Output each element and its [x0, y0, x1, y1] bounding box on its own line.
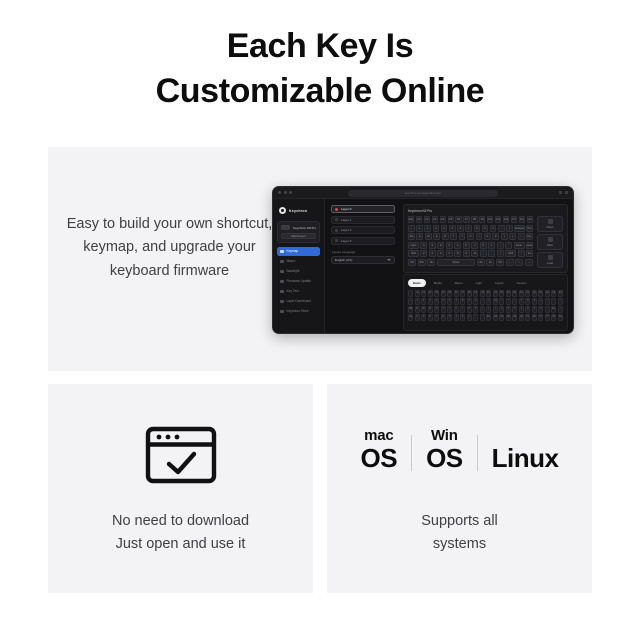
key-picker-chip[interactable]: F10: [480, 290, 485, 297]
sidebar-item-label: Keychron Store: [287, 309, 309, 313]
os-logo-name: OS: [426, 445, 463, 471]
keyboard-key[interactable]: 6: [457, 225, 464, 232]
keyboard-key[interactable]: G: [454, 242, 461, 249]
key-picker-chip[interactable]: 3: [532, 306, 537, 313]
key-picker-chip[interactable]: \: [493, 306, 498, 313]
key-picker-chip[interactable]: L: [467, 314, 472, 321]
keyboard-key[interactable]: F5: [448, 216, 454, 223]
keyboard-key[interactable]: N: [463, 250, 470, 257]
no-download-caption-line2: Just open and use it: [48, 533, 313, 556]
app-body: Keychron Keychron K8 Pro Disconnect Keym…: [273, 199, 573, 334]
address-bar-url: keychron.com/apps/launcher: [348, 190, 498, 197]
key-picker-chip[interactable]: T: [441, 306, 446, 313]
backlight-icon: [280, 270, 284, 274]
layer-item-0[interactable]: Layer 0: [331, 205, 395, 213]
tab-layers[interactable]: Layers: [490, 279, 509, 287]
keyboard-key[interactable]: L: [488, 242, 495, 249]
sidebar-nav: KeymapMacroBacklightFirmware UpdateKey T…: [277, 247, 320, 316]
keyboard-row: TabQWERTYUIOP[]\Pg↓: [408, 233, 533, 240]
keyboard-key[interactable]: J: [471, 242, 478, 249]
keyboard-key[interactable]: 1: [416, 225, 423, 232]
keyboard-key[interactable]: F8: [471, 216, 477, 223]
address-bar[interactable]: keychron.com/apps/launcher: [348, 190, 498, 197]
key-picker-chip[interactable]: I: [460, 306, 465, 313]
device-row: Keychron K8 Pro: [281, 225, 316, 230]
layout-language-value: English (US): [335, 258, 352, 262]
keyboard-key[interactable]: Alt: [477, 259, 485, 266]
keyboard-key[interactable]: C: [437, 250, 444, 257]
keyboard-key[interactable]: Space: [437, 259, 475, 266]
key-picker-chip[interactable]: 8: [525, 298, 530, 305]
keyboard-key[interactable]: 9: [482, 225, 489, 232]
keyboard-row: CapsASDFGHJKL;'EnterEnd: [408, 242, 533, 249]
os-logo-prefix: Win: [431, 428, 458, 443]
os-logo-linux: Linux: [492, 445, 559, 471]
keyboard-key[interactable]: H: [463, 242, 470, 249]
key-picker-chip[interactable]: E: [428, 306, 433, 313]
keyboard-key[interactable]: -: [498, 225, 505, 232]
chevron-down-icon: [387, 259, 391, 261]
key-picker-chip[interactable]: F8: [467, 290, 472, 297]
key-picker-chip[interactable]: F12: [493, 290, 498, 297]
key-picker-chip[interactable]: F9: [473, 290, 478, 297]
key-picker-chip[interactable]: F2: [428, 290, 433, 297]
keyboard-key[interactable]: U: [467, 233, 474, 240]
os-logo-win: WinOS: [426, 428, 463, 471]
keyboard-key[interactable]: F10: [487, 216, 493, 223]
keyboard-key[interactable]: ': [505, 242, 512, 249]
key-picker-chip[interactable]: PgU: [532, 290, 537, 297]
keyboard-key[interactable]: Fn: [486, 259, 494, 266]
key-picker-row: EscF1F2F3F4F5F6F7F8F9F10F11F12PrtScrPauI…: [408, 290, 563, 297]
keyboard-key[interactable]: 0: [490, 225, 497, 232]
layer-indicator-icon: [335, 229, 338, 232]
keyboard-key[interactable]: \: [518, 233, 525, 240]
key-picker-chip[interactable]: Alt: [512, 314, 517, 321]
key-picker-chip[interactable]: 2: [525, 306, 530, 313]
reset-button[interactable]: Reset: [537, 216, 563, 232]
connected-device-card: Keychron K8 Pro Disconnect: [277, 221, 320, 243]
keyboard-key[interactable]: Esc: [408, 216, 414, 223]
layer-item-2[interactable]: Layer 2: [331, 226, 395, 234]
key-picker-chip[interactable]: Del: [538, 290, 543, 297]
keyboard-panel-title: Keychron K8 Pro: [408, 209, 563, 213]
page-title-line1: Each Key Is: [227, 27, 414, 65]
key-picker-grid: EscF1F2F3F4F5F6F7F8F9F10F11F12PrtScrPauI…: [408, 290, 563, 321]
layer-item-label: Layer 3: [341, 239, 351, 243]
key-picker-chip[interactable]: Hom: [525, 290, 530, 297]
keyboard-key[interactable]: 2: [424, 225, 431, 232]
key-picker-chip[interactable]: TG: [538, 314, 543, 321]
keyboard-key[interactable]: F: [446, 242, 453, 249]
keyboard-flex: EscF1F2F3F4F5F6F7F8F9F10F11F12PrtDelHome…: [408, 216, 563, 268]
keyboard-key[interactable]: Q: [416, 233, 423, 240]
traffic-light-dots: [278, 191, 292, 194]
keyboard-key[interactable]: R: [442, 233, 449, 240]
key-picker-chip[interactable]: 1: [519, 306, 524, 313]
os-logo-prefix: mac: [364, 428, 393, 443]
keyboard-key[interactable]: A: [420, 242, 427, 249]
key-picker-chip[interactable]: F4: [441, 290, 446, 297]
key-picker-chip[interactable]: F1: [421, 290, 426, 297]
keyboard-key[interactable]: ←: [506, 259, 514, 266]
key-picker-chip[interactable]: 8: [460, 298, 465, 305]
app-main: Layer 0Layer 1Layer 2Layer 3 Layout Lang…: [325, 199, 573, 334]
sidebar-item-key-test[interactable]: Key Test: [277, 287, 320, 296]
key-picker-chip[interactable]: ': [480, 314, 485, 321]
keyboard-key[interactable]: Y: [459, 233, 466, 240]
key-picker-chip[interactable]: R: [434, 306, 439, 313]
page-title-line2: Customizable Online: [0, 69, 640, 114]
side-button-label: Save: [547, 244, 553, 247]
key-picker-chip[interactable]: Mo: [532, 314, 537, 321]
keyboard-key[interactable]: ]: [509, 233, 516, 240]
key-picker-chip[interactable]: ↓: [558, 306, 563, 313]
save-button[interactable]: Save: [537, 234, 563, 250]
key-picker-chip[interactable]: 5: [441, 298, 446, 305]
keyboard-key[interactable]: F2: [424, 216, 430, 223]
key-picker-chip[interactable]: Shf: [493, 314, 498, 321]
keyboard-row: ~1234567890-=BackspacePg↑: [408, 225, 533, 232]
keyboard-key[interactable]: F3: [432, 216, 438, 223]
feature-card-os-support: macOSWinOSLinux Supports all systems: [327, 384, 592, 593]
keyboard-key[interactable]: /: [497, 250, 504, 257]
layer-list: Layer 0Layer 1Layer 2Layer 3: [331, 205, 395, 245]
keyboard-key[interactable]: =: [506, 225, 513, 232]
keyboard-row: EscF1F2F3F4F5F6F7F8F9F10F11F12PrtDelHome: [408, 216, 533, 223]
keyboard-key[interactable]: [: [501, 233, 508, 240]
key-picker-chip[interactable]: ↑: [545, 298, 550, 305]
os-divider: [411, 435, 412, 471]
keyboard-key[interactable]: 7: [465, 225, 472, 232]
no-download-caption: No need to download Just open and use it: [48, 510, 313, 556]
key-picker-chip[interactable]: 4: [499, 306, 504, 313]
keyboard-row: ShiftZXCVBNM,./Shift↑Ins: [408, 250, 533, 257]
key-picker-chip[interactable]: G: [441, 314, 446, 321]
keyboard-key[interactable]: 8: [474, 225, 481, 232]
feature-card-no-download: No need to download Just open and use it: [48, 384, 313, 593]
keyboard-key[interactable]: F4: [440, 216, 446, 223]
sidebar-item-label: Backlight: [287, 269, 300, 273]
key-picker-chip[interactable]: J: [454, 314, 459, 321]
os-support-caption: Supports all systems: [327, 510, 592, 556]
disconnect-button[interactable]: Disconnect: [281, 233, 316, 239]
keyboard-key[interactable]: 5: [449, 225, 456, 232]
page-title: Each Key Is Customizable Online: [0, 24, 640, 114]
keyboard-side-actions: ResetSaveLoad: [537, 216, 563, 268]
browser-window-check-icon: [145, 426, 217, 489]
keyboard-key[interactable]: D: [437, 242, 444, 249]
key-picker-chip[interactable]: 7: [454, 298, 459, 305]
key-picker-chip[interactable]: PgD: [551, 290, 556, 297]
key-picker-panel: BasicMediaMacroLightLayersCustom EscF1F2…: [403, 274, 568, 331]
layout-language-label: Layout Language: [332, 250, 395, 254]
macro-icon: [280, 260, 284, 264]
layer-indicator-icon: [335, 239, 338, 242]
window-controls: [559, 191, 568, 194]
tab-custom[interactable]: Custom: [512, 279, 532, 287]
key-picker-chip[interactable]: 5: [506, 306, 511, 313]
key-picker-row: ~1234567890-=Bsp/*-789+↑←→: [408, 298, 563, 305]
keyboard-key[interactable]: Tab: [408, 233, 415, 240]
key-picker-chip[interactable]: /: [499, 298, 504, 305]
sidebar-item-label: Key Test: [287, 289, 299, 293]
key-picker-chip[interactable]: TT: [545, 314, 550, 321]
side-button-label: Reset: [547, 226, 554, 229]
keyboard-key[interactable]: F7: [463, 216, 469, 223]
keyboard-key[interactable]: K: [480, 242, 487, 249]
key-picker-chip[interactable]: Ent: [551, 306, 556, 313]
keyboard-key[interactable]: F1: [416, 216, 422, 223]
key-picker-row: TabQWERTYUIOP[]\4561230.Ent↓: [408, 306, 563, 313]
feature-card-configurator: Easy to build your own shortcut, keymap,…: [48, 147, 592, 371]
save-icon: [548, 237, 553, 242]
keyboard-key[interactable]: Caps: [408, 242, 419, 249]
key-picker-chip[interactable]: H: [447, 314, 452, 321]
no-download-caption-line1: No need to download: [48, 510, 313, 533]
keyboard-key[interactable]: O: [484, 233, 491, 240]
tab-media[interactable]: Media: [429, 279, 447, 287]
key-picker-chip[interactable]: F6: [454, 290, 459, 297]
tab-basic[interactable]: Basic: [408, 279, 426, 287]
keyboard-key[interactable]: Ctrl: [496, 259, 504, 266]
key-picker-chip[interactable]: F7: [460, 290, 465, 297]
keyboard-key[interactable]: I: [476, 233, 483, 240]
keyboard-key[interactable]: P: [492, 233, 499, 240]
sidebar-item-label: Keymap: [287, 249, 299, 253]
load-icon: [548, 255, 553, 260]
keyboard-key[interactable]: W: [425, 233, 432, 240]
key-picker-chip[interactable]: =: [486, 298, 491, 305]
layer-item-1[interactable]: Layer 1: [331, 216, 395, 224]
key-picker-chip[interactable]: Ent: [486, 314, 491, 321]
key-picker-chip[interactable]: Fn: [525, 314, 530, 321]
key-picker-chip[interactable]: Any: [558, 314, 563, 321]
key-picker-chip[interactable]: U: [454, 306, 459, 313]
window-control-icon[interactable]: [565, 191, 568, 194]
keyboard-key[interactable]: Ins: [526, 250, 533, 257]
keyboard-key[interactable]: .: [488, 250, 495, 257]
key-picker-chip[interactable]: ~: [408, 298, 413, 305]
key-picker-chip[interactable]: A: [415, 314, 420, 321]
layer-indicator-icon: [335, 208, 338, 211]
keyboard-icon: [280, 250, 284, 254]
close-dot-icon[interactable]: [278, 191, 281, 194]
key-picker-chip[interactable]: 4: [434, 298, 439, 305]
os-support-caption-line2: systems: [327, 533, 592, 556]
brand: Keychron: [279, 207, 320, 214]
keyboard-key[interactable]: Enter: [514, 242, 525, 249]
keyboard-key[interactable]: Pg↑: [526, 225, 533, 232]
key-picker-chip[interactable]: [408, 290, 413, 297]
os-logo-name: Linux: [492, 445, 559, 471]
key-picker-chip[interactable]: F3: [434, 290, 439, 297]
keyboard-key[interactable]: ~: [408, 225, 415, 232]
key-picker-chip[interactable]: O: [467, 306, 472, 313]
os-support-caption-line1: Supports all: [327, 510, 592, 533]
store-icon: [280, 310, 284, 314]
key-picker-chip[interactable]: Prt: [499, 290, 504, 297]
sidebar-item-backlight[interactable]: Backlight: [277, 267, 320, 276]
tab-macro[interactable]: Macro: [450, 279, 468, 287]
layout-language-select[interactable]: English (US): [331, 256, 395, 264]
minimize-dot-icon[interactable]: [284, 191, 287, 194]
sidebar-item-firmware-update[interactable]: Firmware Update: [277, 277, 320, 286]
keyboard-key[interactable]: E: [433, 233, 440, 240]
key-picker-chip[interactable]: Num: [558, 290, 563, 297]
layer-item-label: Layer 0: [341, 207, 351, 211]
keyboard-key[interactable]: T: [450, 233, 457, 240]
key-picker-chip[interactable]: -: [480, 298, 485, 305]
keyboard-key[interactable]: V: [446, 250, 453, 257]
key-picker-chip[interactable]: ←: [551, 298, 556, 305]
app-title-bar: keychron.com/apps/launcher: [273, 187, 573, 199]
keyboard-key[interactable]: Prt: [511, 216, 517, 223]
key-picker-chip[interactable]: F: [434, 314, 439, 321]
layer-item-3[interactable]: Layer 3: [331, 237, 395, 245]
keyboard-key[interactable]: Backspace: [514, 225, 524, 232]
page-root: Each Key Is Customizable Online Easy to …: [0, 0, 640, 640]
app-sidebar: Keychron Keychron K8 Pro Disconnect Keym…: [273, 199, 325, 334]
maximize-dot-icon[interactable]: [289, 191, 292, 194]
key-picker-chip[interactable]: 9: [467, 298, 472, 305]
key-picker-chip[interactable]: Cap: [408, 314, 413, 321]
key-picker-row: CapASDFGHJKL;'EntShfCtlWinAltSpcFnMoTGTT…: [408, 314, 563, 321]
key-picker-chip[interactable]: Spc: [519, 314, 524, 321]
keyboard-key[interactable]: Win: [418, 259, 426, 266]
keyboard-key[interactable]: S: [429, 242, 436, 249]
key-picker-chip[interactable]: 9: [532, 298, 537, 305]
key-picker-chip[interactable]: *: [506, 298, 511, 305]
keyboard-key[interactable]: End: [526, 242, 533, 249]
keyboard-key[interactable]: Shift: [408, 250, 419, 257]
brand-name: Keychron: [289, 209, 307, 213]
keyboard-key[interactable]: ,: [480, 250, 487, 257]
key-picker-chip[interactable]: Bsp: [493, 298, 498, 305]
key-picker-chip[interactable]: Win: [506, 314, 511, 321]
key-picker-chip[interactable]: Esc: [415, 290, 420, 297]
sidebar-item-label: Firmware Update: [287, 279, 311, 283]
key-picker-chip[interactable]: ]: [486, 306, 491, 313]
key-picker-chip[interactable]: ;: [473, 314, 478, 321]
os-divider: [477, 435, 478, 471]
key-picker-chip[interactable]: 6: [447, 298, 452, 305]
keyboard-panel: Keychron K8 Pro EscF1F2F3F4F5F6F7F8F9F10…: [403, 204, 568, 273]
device-thumbnail-icon: [281, 225, 290, 230]
keyboard-key[interactable]: F11: [495, 216, 501, 223]
key-picker-chip[interactable]: F11: [486, 290, 491, 297]
key-picker-chip[interactable]: Y: [447, 306, 452, 313]
sidebar-item-keychron-store[interactable]: Keychron Store: [277, 307, 320, 316]
os-logo-mac: macOS: [361, 428, 398, 471]
keyboard-key[interactable]: X: [429, 250, 436, 257]
key-picker-chip[interactable]: Scr: [506, 290, 511, 297]
tab-light[interactable]: Light: [471, 279, 487, 287]
sidebar-item-label: Layer Dashboard: [287, 299, 311, 303]
keyboard-key[interactable]: 4: [441, 225, 448, 232]
key-picker-chip[interactable]: 7: [519, 298, 524, 305]
key-picker-chip[interactable]: End: [545, 290, 550, 297]
key-picker-tabs: BasicMediaMacroLightLayersCustom: [408, 279, 563, 287]
key-picker-chip[interactable]: 2: [421, 298, 426, 305]
sidebar-item-macro[interactable]: Macro: [277, 257, 320, 266]
layer-indicator-icon: [335, 218, 338, 221]
layers-icon: [280, 300, 284, 304]
keyboard-key[interactable]: Alt: [427, 259, 435, 266]
key-picker-chip[interactable]: →: [558, 298, 563, 305]
key-picker-chip[interactable]: -: [512, 298, 517, 305]
side-button-label: Load: [547, 262, 553, 265]
key-test-icon: [280, 290, 284, 294]
keyboard-key[interactable]: Shift: [505, 250, 516, 257]
sidebar-item-layer-dashboard[interactable]: Layer Dashboard: [277, 297, 320, 306]
layer-item-label: Layer 1: [341, 218, 351, 222]
keyboard-key[interactable]: Pg↓: [526, 233, 533, 240]
keyboard-key[interactable]: Home: [527, 216, 533, 223]
key-picker-chip[interactable]: S: [421, 314, 426, 321]
key-picker-chip[interactable]: Ctl: [499, 314, 504, 321]
key-picker-chip[interactable]: [: [480, 306, 485, 313]
keyboard-key[interactable]: Z: [420, 250, 427, 257]
key-picker-chip[interactable]: 0: [538, 306, 543, 313]
keyboard-layout: EscF1F2F3F4F5F6F7F8F9F10F11F12PrtDelHome…: [408, 216, 533, 266]
load-button[interactable]: Load: [537, 252, 563, 268]
keyboard-row: CtrlWinAltSpaceAltFnCtrl←↓→: [408, 259, 533, 266]
key-picker-chip[interactable]: D: [428, 314, 433, 321]
window-control-icon[interactable]: [559, 191, 562, 194]
key-picker-chip[interactable]: +: [538, 298, 543, 305]
keyboard-key[interactable]: F12: [503, 216, 509, 223]
configurator-app-window: keychron.com/apps/launcher Keychron: [272, 186, 574, 334]
key-picker-chip[interactable]: P: [473, 306, 478, 313]
device-name: Keychron K8 Pro: [293, 226, 316, 230]
keyboard-key[interactable]: M: [471, 250, 478, 257]
configurator-description: Easy to build your own shortcut, keymap,…: [62, 213, 277, 283]
keyboard-key[interactable]: ;: [497, 242, 504, 249]
layer-item-label: Layer 2: [341, 228, 351, 232]
keyboard-key[interactable]: B: [454, 250, 461, 257]
key-picker-chip[interactable]: K: [460, 314, 465, 321]
key-picker-chip[interactable]: Pau: [512, 290, 517, 297]
key-picker-chip[interactable]: Tab: [408, 306, 413, 313]
key-picker-chip[interactable]: Q: [415, 306, 420, 313]
keyboard-key[interactable]: F9: [479, 216, 485, 223]
key-picker-chip[interactable]: 3: [428, 298, 433, 305]
key-picker-chip[interactable]: OSL: [551, 314, 556, 321]
key-picker-chip[interactable]: .: [545, 306, 550, 313]
firmware-icon: [280, 280, 284, 284]
keyboard-key[interactable]: ↓: [515, 259, 523, 266]
no-download-inner: No need to download Just open and use it: [48, 384, 313, 593]
reset-icon: [548, 219, 553, 224]
keyboard-key[interactable]: F6: [455, 216, 461, 223]
keyboard-key[interactable]: Ctrl: [408, 259, 416, 266]
sidebar-item-keymap[interactable]: Keymap: [277, 247, 320, 256]
key-picker-chip[interactable]: W: [421, 306, 426, 313]
key-picker-chip[interactable]: Ins: [519, 290, 524, 297]
keyboard-key[interactable]: →: [525, 259, 533, 266]
os-logo-name: OS: [361, 445, 398, 471]
keyboard-key[interactable]: 3: [433, 225, 440, 232]
key-picker-chip[interactable]: 6: [512, 306, 517, 313]
os-logos: macOSWinOSLinux: [327, 428, 592, 471]
key-picker-chip[interactable]: 0: [473, 298, 478, 305]
key-picker-chip[interactable]: 1: [415, 298, 420, 305]
layers-panel: Layer 0Layer 1Layer 2Layer 3 Layout Lang…: [331, 205, 395, 264]
keyboard-key[interactable]: Del: [519, 216, 525, 223]
keyboard-key[interactable]: ↑: [518, 250, 525, 257]
key-picker-chip[interactable]: F5: [447, 290, 452, 297]
